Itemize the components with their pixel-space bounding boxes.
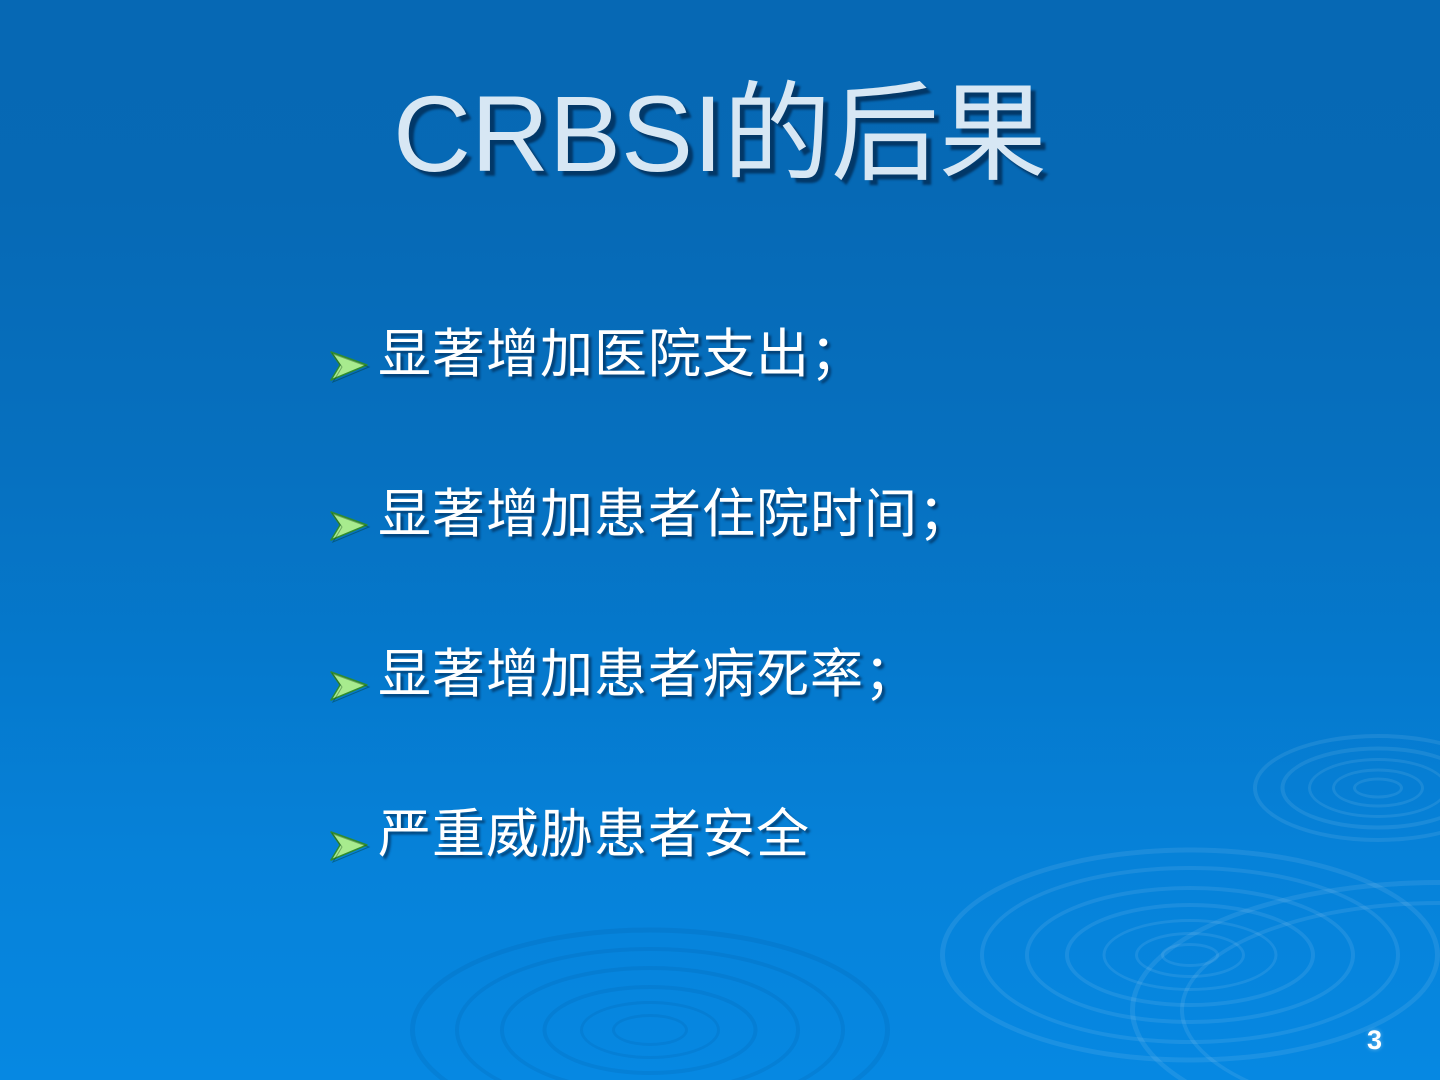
list-item-label: 显著增加患者病死率；	[378, 646, 918, 704]
arrow-bullet-icon	[326, 340, 378, 396]
ripple-ring	[1308, 758, 1440, 818]
ripple-ring	[1353, 778, 1403, 799]
slide-title-cjk: 的后果	[723, 72, 1047, 197]
slide-title-latin: CRBSI	[393, 73, 723, 194]
bullet-list: 显著增加医院支出； 显著增加患者住院时间； 显著增加患者病死率；	[326, 326, 1326, 966]
ripple-ring	[500, 966, 800, 1080]
list-item: 显著增加患者病死率；	[326, 646, 1326, 806]
arrow-bullet-icon	[326, 500, 378, 556]
arrow-bullet-icon	[326, 660, 378, 716]
list-item: 显著增加医院支出；	[326, 326, 1326, 486]
ripple-ring	[543, 985, 758, 1075]
ripple-ring	[612, 1014, 688, 1046]
slide-canvas: CRBSI的后果 显著增加医院支出； 显著增加患者住院时间；	[0, 0, 1440, 1080]
list-item: 显著增加患者住院时间；	[326, 486, 1326, 646]
ripple-ring	[455, 947, 845, 1080]
slide-title: CRBSI的后果	[0, 72, 1440, 197]
arrow-bullet-icon	[326, 820, 378, 876]
ripple-ring	[1332, 769, 1424, 808]
list-item: 严重威胁患者安全	[326, 806, 1326, 966]
list-item-label: 显著增加患者住院时间；	[378, 486, 972, 544]
list-item-label: 显著增加医院支出；	[378, 326, 864, 384]
page-number: 3	[1367, 1025, 1382, 1056]
list-item-label: 严重威胁患者安全	[378, 806, 810, 864]
ripple-ring	[580, 1001, 720, 1059]
